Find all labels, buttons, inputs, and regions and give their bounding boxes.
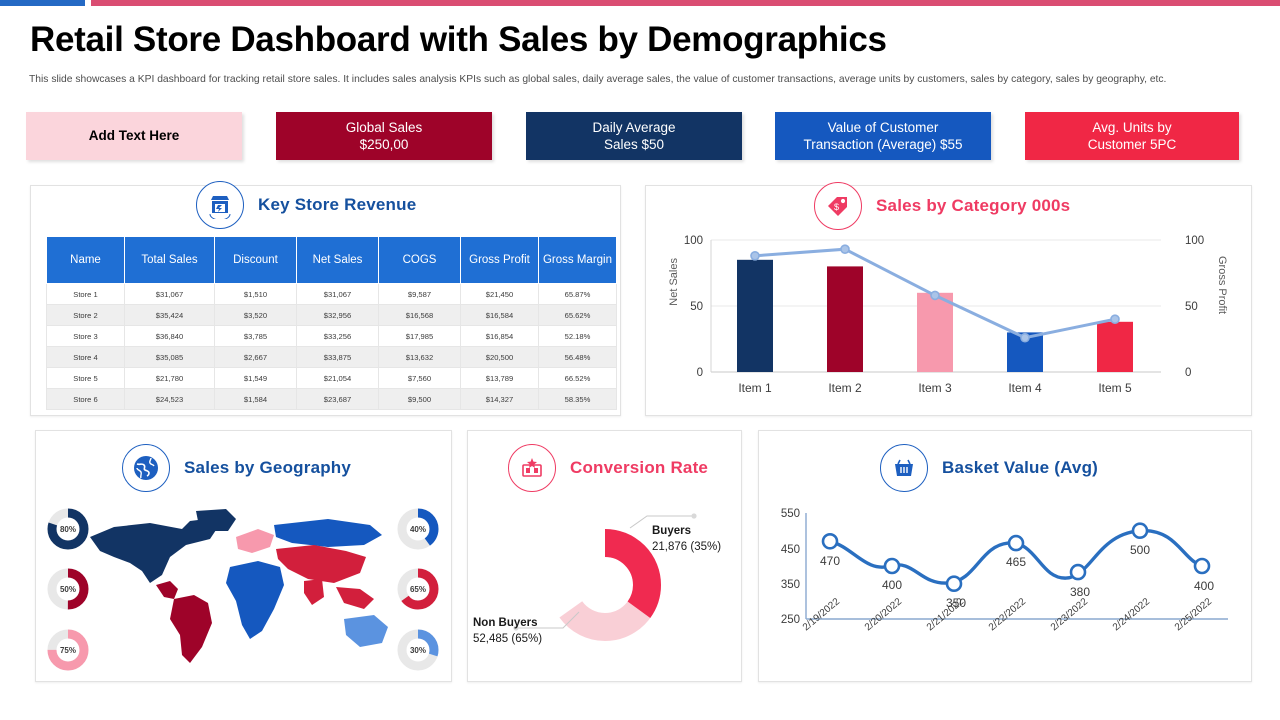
svg-text:450: 450 [781, 544, 800, 556]
cell-cogs: $7,560 [379, 368, 461, 389]
kpi-card-add-text[interactable]: Add Text Here [26, 112, 242, 160]
cell-cogs: $13,632 [379, 347, 461, 368]
kpi-line1: Daily Average [588, 119, 679, 136]
cell-net-sales: $32,956 [297, 305, 379, 326]
x-tick-item-3: Item 3 [918, 381, 952, 395]
col-header-name[interactable]: Name [47, 237, 125, 284]
table-row[interactable]: Store 1 $31,067 $1,510 $31,067 $9,587 $2… [47, 284, 617, 305]
bar-item-3 [917, 293, 953, 372]
x-tick-item-2: Item 2 [828, 381, 862, 395]
gauge-label: 50% [46, 567, 90, 611]
kpi-line2: $250,00 [342, 136, 427, 153]
point-label-2: 400 [882, 578, 902, 592]
cell-discount: $1,510 [215, 284, 297, 305]
top-accent-bar [0, 0, 1280, 6]
svg-text:50: 50 [1185, 301, 1198, 313]
geo-gauge-30[interactable]: 30% [396, 628, 440, 672]
table-row[interactable]: Store 4 $35,085 $2,667 $33,875 $13,632 $… [47, 347, 617, 368]
cell-discount: $3,785 [215, 326, 297, 347]
point-label-4: 465 [1006, 555, 1026, 569]
cell-gross-margin: 58.35% [539, 389, 617, 410]
kpi-card-global-sales[interactable]: Global Sales $250,00 [276, 112, 492, 160]
conversion-icon [508, 444, 556, 492]
gauge-label: 65% [396, 567, 440, 611]
geo-gauge-80[interactable]: 80% [46, 507, 90, 551]
map-region-central-america [156, 581, 178, 599]
gauge-label: 40% [396, 507, 440, 551]
key-store-revenue-table: Name Total Sales Discount Net Sales COGS… [46, 236, 617, 410]
svg-text:250: 250 [781, 614, 800, 626]
kpi-line2: Sales $50 [588, 136, 679, 153]
cell-discount: $1,584 [215, 389, 297, 410]
map-region-south-america [170, 595, 212, 663]
cell-name: Store 2 [47, 305, 125, 326]
non-buyers-value: 52,485 (65%) [473, 633, 542, 645]
cell-net-sales: $33,875 [297, 347, 379, 368]
cell-name: Store 6 [47, 389, 125, 410]
panel-title: Conversion Rate [570, 458, 708, 478]
buyers-name: Buyers [652, 525, 691, 537]
store-icon [196, 181, 244, 229]
map-region-asia [276, 545, 366, 583]
table-header-row: Name Total Sales Discount Net Sales COGS… [47, 237, 617, 284]
cell-cogs: $9,500 [379, 389, 461, 410]
col-header-gross-profit[interactable]: Gross Profit [461, 237, 539, 284]
kpi-card-value-of-customer-transaction[interactable]: Value of Customer Transaction (Average) … [775, 112, 991, 160]
geo-gauge-40[interactable]: 40% [396, 507, 440, 551]
svg-text:350: 350 [781, 579, 800, 591]
x-tick-date-5: 2/23/2022 [1049, 596, 1090, 633]
cell-name: Store 4 [47, 347, 125, 368]
point-label-7: 400 [1194, 579, 1214, 593]
conversion-buyers-label: Buyers 21,876 (35%) [652, 524, 721, 555]
x-tick-date-4: 2/22/2022 [987, 596, 1028, 633]
panel-title: Basket Value (Avg) [942, 458, 1098, 478]
map-region-india [304, 579, 324, 605]
key-store-revenue-heading: Key Store Revenue [196, 181, 416, 229]
cell-gross-margin: 66.52% [539, 368, 617, 389]
kpi-line2: Transaction (Average) $55 [799, 136, 966, 153]
svg-text:550: 550 [781, 508, 800, 520]
map-region-southeast-asia [336, 587, 374, 609]
dashboard-slide: Retail Store Dashboard with Sales by Dem… [0, 0, 1280, 720]
cell-discount: $1,549 [215, 368, 297, 389]
panel-title: Sales by Geography [184, 458, 351, 478]
cell-net-sales: $21,054 [297, 368, 379, 389]
cell-discount: $2,667 [215, 347, 297, 368]
col-header-total-sales[interactable]: Total Sales [125, 237, 215, 284]
svg-text:0: 0 [697, 367, 703, 379]
bar-item-2 [827, 266, 863, 372]
buyers-value: 21,876 (35%) [652, 541, 721, 553]
kpi-card-avg-units-by-customer[interactable]: Avg. Units by Customer 5PC [1025, 112, 1239, 160]
cell-gross-profit: $14,327 [461, 389, 539, 410]
accent-segment-pink [91, 0, 1280, 6]
cell-gross-profit: $13,789 [461, 368, 539, 389]
point-label-5: 380 [1070, 585, 1090, 599]
svg-text:0: 0 [1185, 367, 1191, 379]
col-header-net-sales[interactable]: Net Sales [297, 237, 379, 284]
sales-by-geography-heading: Sales by Geography [122, 444, 351, 492]
col-header-cogs[interactable]: COGS [379, 237, 461, 284]
basket-icon [880, 444, 928, 492]
x-tick-date-1: 2/19/2022 [801, 596, 842, 633]
x-tick-item-1: Item 1 [738, 381, 772, 395]
cell-gross-profit: $20,500 [461, 347, 539, 368]
geo-gauge-50[interactable]: 50% [46, 567, 90, 611]
point-label-6: 500 [1130, 543, 1150, 557]
non-buyers-name: Non Buyers [473, 617, 538, 629]
map-region-russia [274, 519, 382, 547]
cell-total-sales: $21,780 [125, 368, 215, 389]
page-subtitle: This slide showcases a KPI dashboard for… [29, 73, 1229, 87]
conversion-rate-donut [540, 520, 670, 650]
cell-gross-profit: $16,584 [461, 305, 539, 326]
cell-name: Store 5 [47, 368, 125, 389]
map-region-europe [236, 529, 274, 553]
cell-total-sales: $35,085 [125, 347, 215, 368]
bar-item-1 [737, 260, 773, 372]
col-header-gross-margin[interactable]: Gross Margin [539, 237, 617, 284]
gauge-label: 75% [46, 628, 90, 672]
geo-gauge-65[interactable]: 65% [396, 567, 440, 611]
cell-net-sales: $31,067 [297, 284, 379, 305]
cell-total-sales: $24,523 [125, 389, 215, 410]
world-map [78, 505, 408, 670]
cell-gross-margin: 56.48% [539, 347, 617, 368]
cell-cogs: $16,568 [379, 305, 461, 326]
panel-title: Key Store Revenue [258, 195, 416, 215]
kpi-line2: Customer 5PC [1084, 136, 1181, 153]
kpi-line1: Avg. Units by [1084, 119, 1181, 136]
x-tick-date-2: 2/20/2022 [863, 596, 904, 633]
bar-item-5 [1097, 322, 1133, 372]
table-row[interactable]: Store 2 $35,424 $3,520 $32,956 $16,568 $… [47, 305, 617, 326]
geo-gauge-75[interactable]: 75% [46, 628, 90, 672]
kpi-card-row: Add Text Here Global Sales $250,00 Daily… [26, 112, 1254, 160]
page-title: Retail Store Dashboard with Sales by Dem… [30, 22, 1230, 59]
cell-discount: $3,520 [215, 305, 297, 326]
col-header-discount[interactable]: Discount [215, 237, 297, 284]
kpi-line1: Add Text Here [85, 127, 184, 144]
x-tick-item-4: Item 4 [1008, 381, 1042, 395]
kpi-line1: Global Sales [342, 119, 427, 136]
svg-text:$: $ [834, 202, 839, 212]
cell-name: Store 3 [47, 326, 125, 347]
gauge-label: 30% [396, 628, 440, 672]
cell-gross-profit: $16,854 [461, 326, 539, 347]
sales-by-category-chart: 100 50 0 100 50 0 Item 1 Item 2 Item 3 I… [645, 222, 1250, 407]
point-label-1: 470 [820, 554, 840, 568]
x-tick-date-7: 2/25/2022 [1173, 596, 1214, 633]
globe-icon [122, 444, 170, 492]
table-row[interactable]: Store 5 $21,780 $1,549 $21,054 $7,560 $1… [47, 368, 617, 389]
map-region-north-america [90, 519, 218, 583]
table-row[interactable]: Store 3 $36,840 $3,785 $33,256 $17,985 $… [47, 326, 617, 347]
gauge-label: 80% [46, 507, 90, 551]
cell-total-sales: $31,067 [125, 284, 215, 305]
conversion-rate-heading: Conversion Rate [508, 444, 708, 492]
cell-total-sales: $35,424 [125, 305, 215, 326]
svg-text:100: 100 [684, 235, 703, 247]
cell-gross-margin: 65.87% [539, 284, 617, 305]
svg-text:100: 100 [1185, 235, 1204, 247]
map-region-africa [226, 561, 284, 639]
cell-total-sales: $36,840 [125, 326, 215, 347]
cell-cogs: $9,587 [379, 284, 461, 305]
svg-text:50: 50 [690, 301, 703, 313]
map-region-australia [344, 615, 388, 647]
kpi-line1: Value of Customer [799, 119, 966, 136]
basket-value-chart: 550 450 350 250 470 400 350 465 380 500 … [758, 495, 1250, 680]
table-row[interactable]: Store 6 $24,523 $1,584 $23,687 $9,500 $1… [47, 389, 617, 410]
cell-gross-profit: $21,450 [461, 284, 539, 305]
conversion-non-buyers-label: Non Buyers 52,485 (65%) [473, 616, 542, 647]
basket-value-heading: Basket Value (Avg) [880, 444, 1098, 492]
cell-gross-margin: 65.62% [539, 305, 617, 326]
x-tick-item-5: Item 5 [1098, 381, 1132, 395]
panel-title: Sales by Category 000s [876, 196, 1070, 216]
cell-gross-margin: 52.18% [539, 326, 617, 347]
kpi-card-daily-average-sales[interactable]: Daily Average Sales $50 [526, 112, 742, 160]
cell-cogs: $17,985 [379, 326, 461, 347]
accent-segment-blue [0, 0, 85, 6]
cell-name: Store 1 [47, 284, 125, 305]
cell-net-sales: $33,256 [297, 326, 379, 347]
x-tick-date-6: 2/24/2022 [1111, 596, 1152, 633]
cell-net-sales: $23,687 [297, 389, 379, 410]
